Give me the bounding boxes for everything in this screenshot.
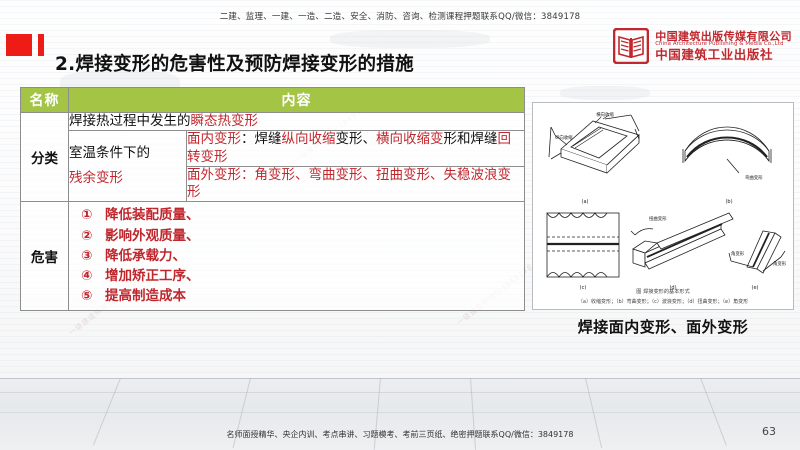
svg-text:纵向收缩: 纵向收缩 (555, 134, 573, 141)
in-plane-term: 面内变形 (187, 131, 241, 147)
in-plane-deformation-cell: 面内变形：焊缝纵向收缩变形、横向收缩变形和焊缝回转变形 (187, 131, 525, 167)
page-number: 63 (762, 425, 776, 438)
table-row: 分类 焊接热过程中发生的瞬态热变形 (21, 113, 525, 131)
svg-text:(a): (a) (582, 199, 589, 205)
out-of-plane-deformation-cell: 面外变形：角变形、弯曲变形、扭曲变形、失稳波浪变形 (187, 166, 525, 202)
residual-deformation-label: 室温条件下的 残余变形 (69, 131, 187, 202)
list-text: 降低承载力、 (105, 246, 186, 266)
list-item: ④增加矫正工序、 (81, 266, 524, 286)
hazard-list: ①降低装配质量、 ②影响外观质量、 ③降低承载力、 ④增加矫正工序、 ⑤提高制造… (69, 202, 524, 309)
publisher-logo-icon (613, 28, 649, 64)
list-text: 影响外观质量、 (105, 226, 200, 246)
hazard-cell: ①降低装配质量、 ②影响外观质量、 ③降低承载力、 ④增加矫正工序、 ⑤提高制造… (69, 202, 525, 310)
list-text: 降低装配质量、 (105, 205, 200, 225)
list-item: ③降低承载力、 (81, 246, 524, 266)
list-item: ⑤提高制造成本 (81, 286, 524, 306)
list-marker: ⑤ (81, 286, 95, 306)
logo-press-cn: 中国建筑工业出版社 (655, 48, 792, 61)
red-accent-bar (38, 34, 44, 56)
residual-label-red: 残余变形 (69, 170, 186, 187)
svg-text:横向收缩: 横向收缩 (596, 111, 614, 118)
figure-inner-legend: （a）收缩变形；（b）弯曲变形；（c）波浪变形；（d）扭曲变形；（e）角变形 (533, 298, 793, 305)
red-accent-block (6, 34, 32, 56)
background-blob (330, 30, 490, 48)
table-header-content: 内容 (69, 88, 525, 113)
welding-deformation-figure: 横向收缩 纵向收缩 (a) 弯曲变形 (b) (532, 102, 794, 310)
table-row: 室温条件下的 残余变形 面内变形：焊缝纵向收缩变形、横向收缩变形和焊缝回转变形 (21, 131, 525, 167)
content-table: 名称 内容 分类 焊接热过程中发生的瞬态热变形 室温条件下的 残余变形 面内变形… (20, 87, 525, 311)
slide-canvas: 二建、监理、一建、一造、二造、安全、消防、咨询、检测课程押题联系QQ/微信：38… (0, 0, 800, 450)
page-title: 2.焊接变形的危害性及预防焊接变形的措施 (55, 50, 414, 76)
row-label-classification: 分类 (21, 113, 69, 202)
svg-text:角变形: 角变形 (773, 260, 787, 267)
list-item: ①降低装配质量、 (81, 205, 524, 225)
svg-text:角变形: 角变形 (731, 250, 745, 257)
list-text: 增加矫正工序、 (105, 266, 200, 286)
footer-promo-text: 名师面授精华、央企内训、考点串讲、习题模考、考前三页纸、绝密押题联系QQ/微信：… (0, 429, 800, 440)
list-text: 提高制造成本 (105, 286, 186, 306)
list-item: ②影响外观质量、 (81, 226, 524, 246)
svg-text:扭曲变形: 扭曲变形 (649, 215, 667, 222)
list-marker: ① (81, 205, 95, 225)
table-row: 危害 ①降低装配质量、 ②影响外观质量、 ③降低承载力、 ④增加矫正工序、 ⑤提… (21, 202, 525, 310)
figure-inner-title: 图 焊接变形的基本形式 (533, 288, 793, 295)
list-marker: ② (81, 226, 95, 246)
definition-term: 瞬态热变形 (191, 113, 259, 129)
figure-caption: 焊接面内变形、面外变形 (532, 316, 794, 337)
definition-prefix: 焊接热过程中发生的 (69, 113, 191, 129)
table-header-name: 名称 (21, 88, 69, 113)
table-header-row: 名称 内容 (21, 88, 525, 113)
promo-header-text: 二建、监理、一建、一造、二造、安全、消防、咨询、检测课程押题联系QQ/微信：38… (0, 10, 800, 22)
background-blob (560, 86, 650, 100)
out-of-plane-term: 面外变形 (187, 167, 241, 183)
svg-text:弯曲变形: 弯曲变形 (745, 174, 763, 181)
definition-cell: 焊接热过程中发生的瞬态热变形 (69, 113, 525, 131)
residual-label-black: 室温条件下的 (69, 145, 186, 162)
svg-text:(b): (b) (725, 199, 732, 205)
publisher-logo: 中国建筑出版传媒有限公司 China Architecture Publishi… (613, 28, 792, 64)
list-marker: ④ (81, 266, 95, 286)
row-label-hazard: 危害 (21, 202, 69, 310)
list-marker: ③ (81, 246, 95, 266)
